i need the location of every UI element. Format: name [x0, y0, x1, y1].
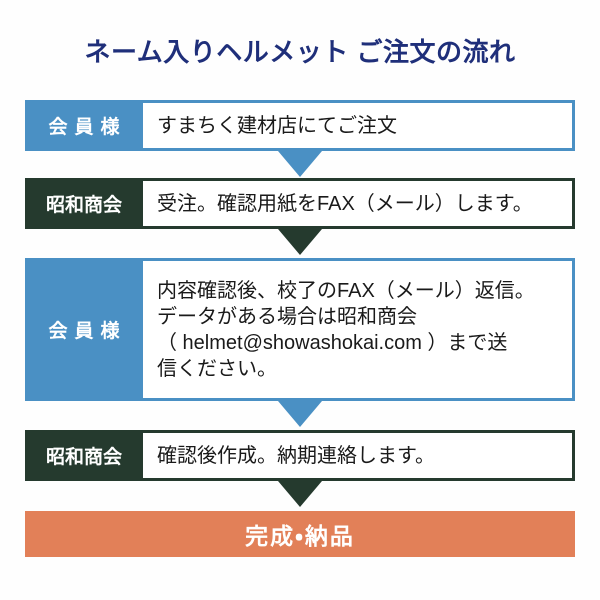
- flow-arrow-down-icon-2: [278, 229, 322, 255]
- flow-step-1-body: すまちく建材店にてご注文: [143, 100, 575, 151]
- flow-step-4-actor-label: 昭和商会: [25, 430, 143, 481]
- flow-step-4: 昭和商会 確認後作成。納期連絡します。: [25, 430, 575, 481]
- flow-step-3-body: 内容確認後、校了のFAX（メール）返信。 データがある場合は昭和商会 （ hel…: [143, 258, 575, 401]
- flow-arrow-down-icon-4: [278, 481, 322, 507]
- flow-step-2-body: 受注。確認用紙をFAX（メール）します。: [143, 178, 575, 229]
- flow-step-1-text: すまちく建材店にてご注文: [157, 113, 397, 139]
- flow-step-2-text: 受注。確認用紙をFAX（メール）します。: [157, 191, 533, 217]
- flow-arrow-down-icon-1: [278, 151, 322, 177]
- flow-step-3: 会員様 内容確認後、校了のFAX（メール）返信。 データがある場合は昭和商会 （…: [25, 258, 575, 401]
- flow-final-step: 完成・納品: [25, 511, 575, 557]
- flow-step-3-actor-label: 会員様: [25, 258, 143, 401]
- flow-step-1: 会員様 すまちく建材店にてご注文: [25, 100, 575, 151]
- flow-step-4-text: 確認後作成。納期連絡します。: [157, 443, 435, 469]
- flow-final-label: 完成・納品: [245, 517, 355, 551]
- page-title: ネーム入りヘルメット ご注文の流れ: [0, 32, 600, 69]
- flow-step-3-text: 内容確認後、校了のFAX（メール）返信。 データがある場合は昭和商会 （ hel…: [157, 278, 535, 382]
- flow-step-2-actor-label: 昭和商会: [25, 178, 143, 229]
- flow-step-1-actor-label: 会員様: [25, 100, 143, 151]
- flow-step-2: 昭和商会 受注。確認用紙をFAX（メール）します。: [25, 178, 575, 229]
- flow-step-4-body: 確認後作成。納期連絡します。: [143, 430, 575, 481]
- flow-arrow-down-icon-3: [278, 401, 322, 427]
- order-flow-diagram: ネーム入りヘルメット ご注文の流れ 会員様 すまちく建材店にてご注文 昭和商会 …: [0, 0, 600, 600]
